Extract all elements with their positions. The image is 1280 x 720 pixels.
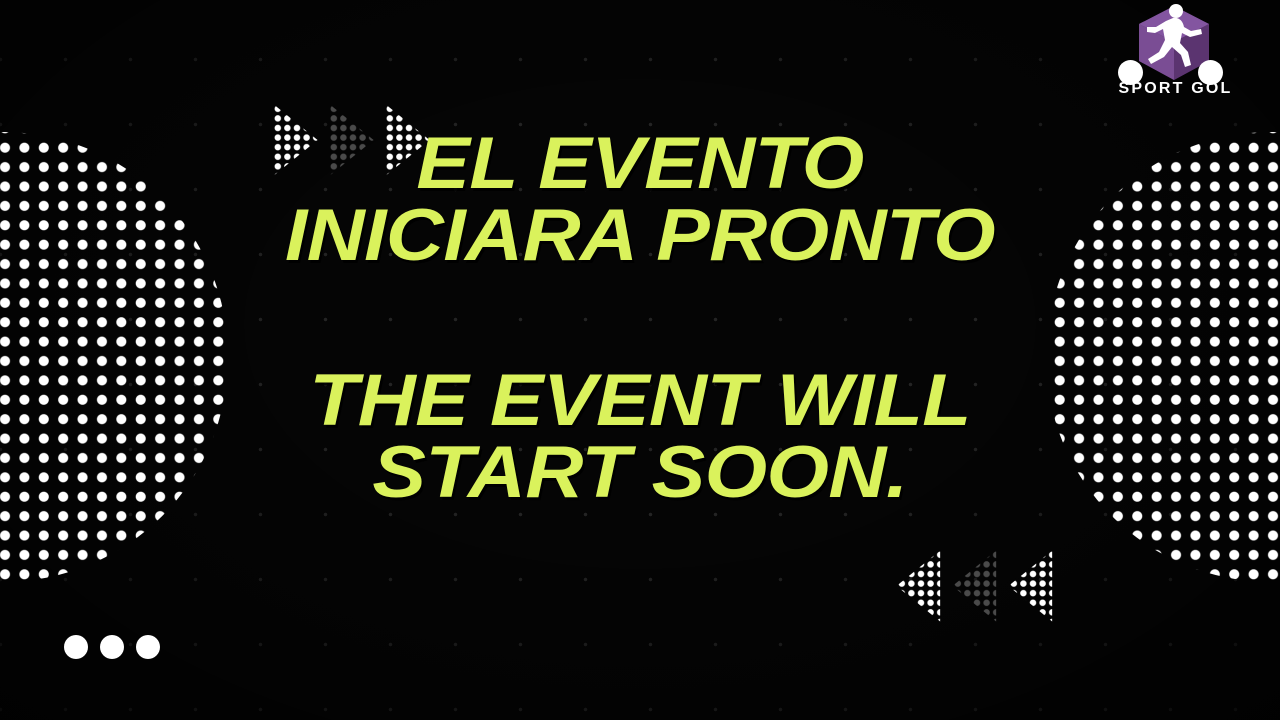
- brand-wordmark: SPORT GOL: [1113, 80, 1238, 98]
- decorative-dot: [136, 635, 160, 659]
- play-arrow-icon: [272, 103, 318, 177]
- brand-logo: SPORT GOL: [1113, 2, 1238, 110]
- decorative-dot: [64, 635, 88, 659]
- rewind-arrow-icon-dim: [952, 549, 998, 623]
- halftone-arrow-cluster-bottom: [896, 549, 1054, 623]
- play-arrow-icon: [384, 103, 430, 177]
- rewind-arrow-icon: [1008, 549, 1054, 623]
- soccer-player-icon: [1139, 2, 1207, 74]
- decorative-dot: [100, 635, 124, 659]
- rewind-arrow-icon: [896, 549, 942, 623]
- decorative-dots-bottom-left: [64, 635, 160, 659]
- play-arrow-icon-dim: [328, 103, 374, 177]
- halftone-arrow-cluster-top: [272, 103, 430, 177]
- broadcast-standby-screen: EL EVENTO INICIARA PRONTO THE EVENT WILL…: [0, 0, 1280, 720]
